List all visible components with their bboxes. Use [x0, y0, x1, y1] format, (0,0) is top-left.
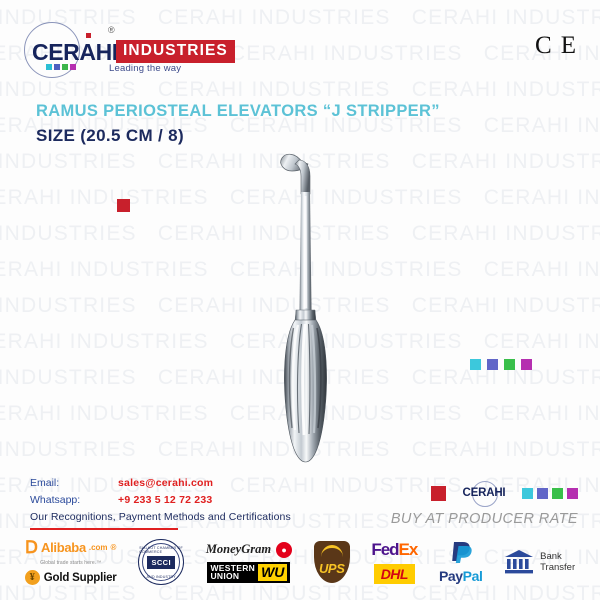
bank-line2: Transfer [540, 562, 575, 573]
scci-seal-icon: SIALKOT CHAMBER OF COMMERCE SCCI AND IND… [138, 539, 184, 585]
right-swatch-3 [504, 359, 515, 370]
dhl-logo: DHL [374, 564, 415, 584]
alibaba-com: .com [89, 543, 108, 552]
bank-transfer-text: Bank Transfer [540, 551, 575, 573]
logo-swatch-2 [54, 64, 60, 70]
right-swatch-1 [470, 359, 481, 370]
footer-red-square-icon [431, 486, 446, 501]
ups-logo[interactable]: UPS [314, 541, 350, 583]
email-value[interactable]: sales@cerahi.com [118, 476, 213, 491]
footer-swatch-3 [552, 488, 563, 499]
ce-mark-icon: C E [535, 32, 578, 60]
footer-swatch-4 [567, 488, 578, 499]
moneygram-badge-icon: ● [276, 542, 292, 558]
alibaba-logo[interactable]: Ⅾ Alibaba .com ® Global trade starts her… [25, 539, 117, 585]
money-transfer-logos[interactable]: MoneyGram ● WESTERN UNION WU [206, 542, 292, 583]
footer-brand-block: CERAHI BUY AT PRODUCER RATE [358, 482, 578, 527]
logo-swatch-1 [46, 64, 52, 70]
instrument-neck [295, 160, 310, 194]
gold-supplier-text: Gold Supplier [44, 572, 117, 584]
alibaba-subtitle: Global trade starts here.™ [40, 560, 101, 566]
dhl-text: DHL [381, 566, 408, 582]
ups-text: UPS [319, 561, 345, 576]
paypal-mark-icon [448, 540, 474, 564]
bank-building-icon [504, 549, 534, 575]
partner-logo-strip: Ⅾ Alibaba .com ® Global trade starts her… [0, 528, 600, 596]
bank-line1: Bank [540, 551, 575, 562]
page-header: ® CERAHI INDUSTRIES Leading the way C E [0, 0, 600, 88]
paypal-text: PayPal [439, 568, 483, 584]
scci-core-text: SCCI [147, 556, 175, 569]
content-layer: ® CERAHI INDUSTRIES Leading the way C E … [0, 0, 600, 600]
paypal-logo[interactable]: PayPal [439, 540, 483, 584]
scci-arc-top: SIALKOT CHAMBER OF COMMERCE [139, 546, 183, 554]
alibaba-registered-icon: ® [111, 543, 117, 552]
contact-row-email: Email: sales@cerahi.com [30, 476, 360, 491]
logo-swatch-3 [62, 64, 68, 70]
product-image [240, 140, 380, 470]
email-label: Email: [30, 476, 118, 491]
alibaba-top-row: Ⅾ Alibaba .com ® [25, 539, 117, 556]
western-union-mark: WU [258, 564, 287, 581]
ups-shield-icon: UPS [314, 541, 350, 583]
alibaba-swirl-icon: Ⅾ [25, 539, 38, 556]
moneygram-text: MoneyGram [206, 542, 271, 557]
whatsapp-value[interactable]: +9 233 5 12 72 233 [118, 493, 212, 508]
recognitions-heading: Our Recognitions, Payment Methods and Ce… [30, 511, 360, 523]
contact-block: Email: sales@cerahi.com Whatsapp: +9 233… [30, 476, 360, 530]
brand-logo[interactable]: ® CERAHI INDUSTRIES Leading the way [24, 22, 244, 78]
instrument-svg [240, 140, 380, 470]
red-square-decoration [117, 199, 130, 212]
moneygram-logo: MoneyGram ● [206, 542, 292, 558]
right-swatch-group [470, 359, 532, 370]
instrument-collar [295, 310, 316, 321]
western-union-stack: WESTERN UNION [210, 564, 255, 581]
contact-row-whatsapp: Whatsapp: +9 233 5 12 72 233 [30, 493, 360, 508]
logo-brand-text: CERAHI [32, 39, 118, 66]
product-card-page: CERAHI INDUSTRIES CERAHI INDUSTRIES CERA… [0, 0, 600, 600]
footer-swatch-1 [522, 488, 533, 499]
fedex-ex: Ex [399, 540, 418, 559]
footer-logo-circle-icon: CERAHI [453, 482, 515, 504]
whatsapp-label: Whatsapp: [30, 493, 118, 508]
western-union-line2: UNION [210, 572, 255, 581]
product-title-primary: RAMUS PERIOSTEAL ELEVATORS “J STRIPPER” [36, 100, 566, 122]
courier-logos[interactable]: FedEx DHL [371, 540, 417, 584]
bank-transfer-row: Bank Transfer [504, 549, 575, 575]
logo-suffix-text: INDUSTRIES [116, 40, 235, 63]
slogan-text: BUY AT PRODUCER RATE [358, 511, 578, 527]
logo-red-dot-icon [86, 33, 91, 38]
footer-swatch-group [522, 488, 578, 499]
right-swatch-2 [487, 359, 498, 370]
footer-brand-row: CERAHI [358, 482, 578, 504]
bank-transfer-logo[interactable]: Bank Transfer [504, 549, 575, 575]
gold-supplier-badge: ¥ Gold Supplier [25, 570, 117, 585]
footer-swatch-2 [537, 488, 548, 499]
paypal-pay: Pay [439, 568, 463, 584]
scci-seal-logo: SIALKOT CHAMBER OF COMMERCE SCCI AND IND… [138, 539, 184, 585]
fedex-fed: Fed [371, 540, 398, 559]
logo-tagline: Leading the way [109, 63, 181, 74]
footer-brand-text: CERAHI [463, 487, 506, 499]
gold-coin-icon: ¥ [25, 570, 40, 585]
western-union-logo: WESTERN UNION WU [207, 562, 290, 583]
fedex-logo: FedEx [371, 540, 417, 560]
alibaba-word: Alibaba [41, 540, 86, 555]
scci-arc-bottom: AND INDUSTRY [147, 575, 176, 579]
logo-swatch-group [46, 64, 76, 70]
logo-swatch-4 [70, 64, 76, 70]
right-swatch-4 [521, 359, 532, 370]
paypal-pal: Pal [463, 568, 483, 584]
registered-trademark-icon: ® [108, 25, 115, 35]
